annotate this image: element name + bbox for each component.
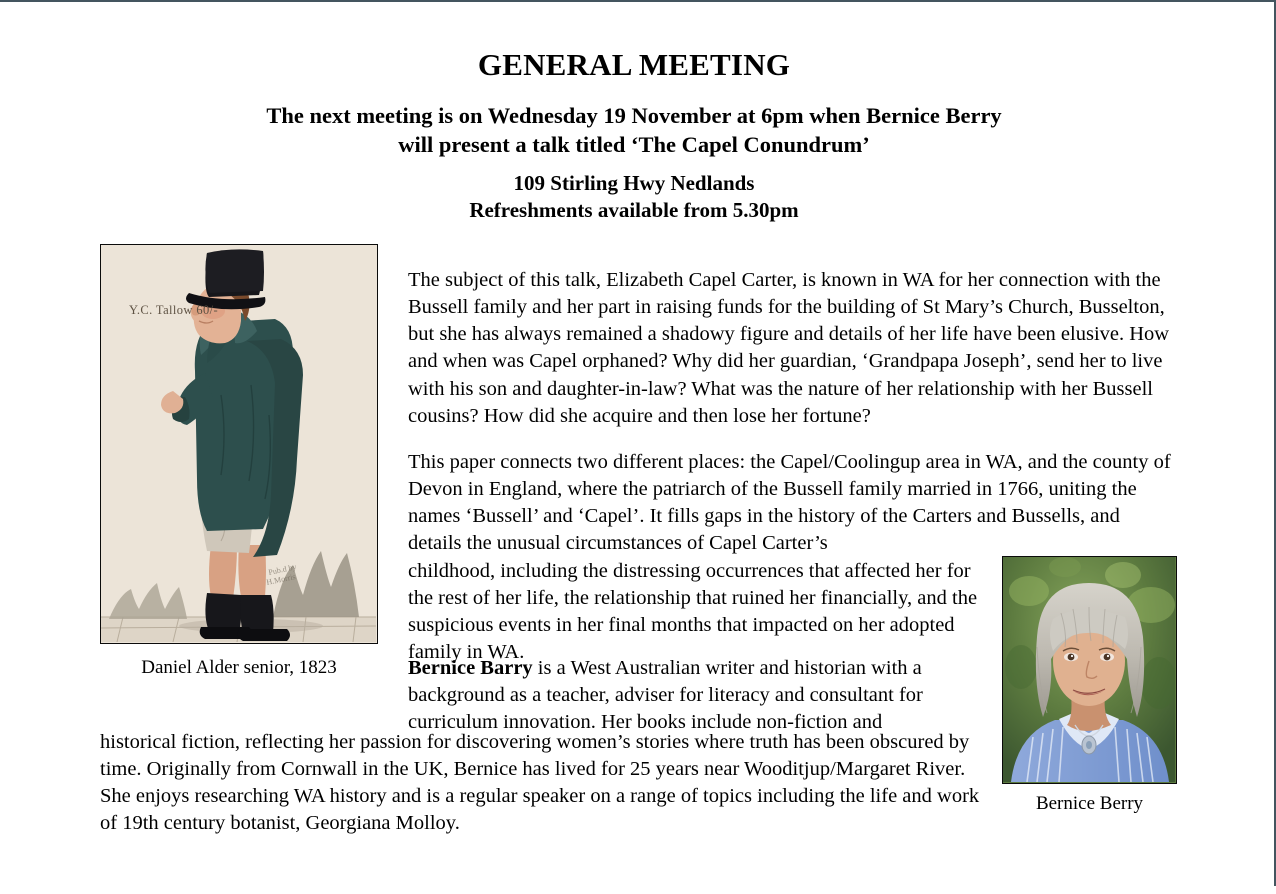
venue-block: 109 Stirling Hwy Nedlands Refreshments a… [0, 170, 1268, 223]
paragraph-paper: This paper connects two different places… [408, 449, 1176, 667]
speaker-name: Bernice Barry [408, 657, 533, 679]
announcement-line-1: The next meeting is on Wednesday 19 Nove… [0, 102, 1268, 131]
paragraph-paper-narrow: childhood, including the distressing occ… [408, 558, 988, 667]
portrait-caption: Bernice Berry [1002, 793, 1177, 815]
venue-address: 109 Stirling Hwy Nedlands [0, 170, 1268, 197]
etching-figure: Pub.d by H.Morris Y.C. Tallow 60/- Danie… [100, 244, 380, 679]
etching-image: Pub.d by H.Morris Y.C. Tallow 60/- [100, 244, 378, 644]
paragraph-subject: The subject of this talk, Elizabeth Cape… [408, 267, 1176, 431]
refreshments-note: Refreshments available from 5.30pm [0, 197, 1268, 224]
announcement-line-2: will present a talk titled ‘The Capel Co… [0, 131, 1268, 160]
flyer-page: GENERAL MEETING The next meeting is on W… [0, 0, 1276, 894]
paragraph-paper-wide: This paper connects two different places… [408, 451, 1171, 555]
etching-caption: Daniel Alder senior, 1823 [100, 657, 378, 679]
page-border-top [0, 0, 1276, 2]
paragraph-bio-bottom: historical fiction, reflecting her passi… [100, 729, 990, 838]
paragraph-bio-top: Bernice Barry is a West Australian write… [408, 655, 996, 737]
page-title: GENERAL MEETING [0, 47, 1268, 83]
etching-inscription: Y.C. Tallow 60/- [129, 303, 218, 318]
meeting-announcement: The next meeting is on Wednesday 19 Nove… [0, 102, 1268, 159]
